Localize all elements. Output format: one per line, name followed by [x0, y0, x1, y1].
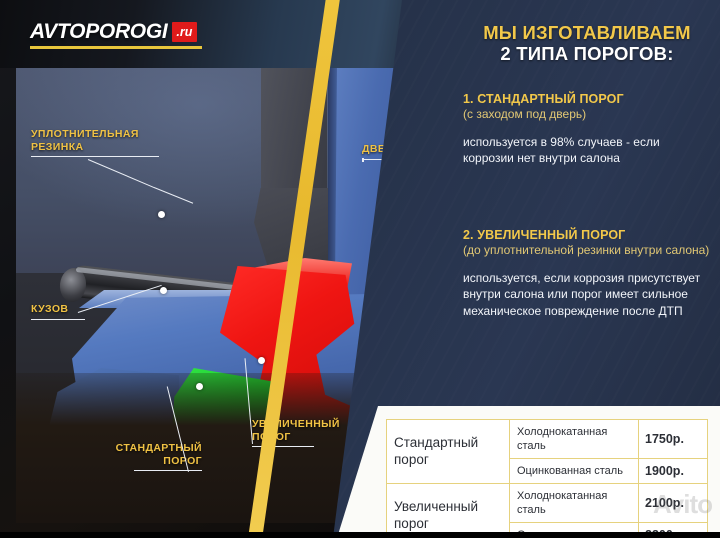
logo-underline-bar [30, 46, 202, 49]
heading-line1: МЫ ИЗГОТАВЛИВАЕМ [462, 22, 712, 43]
row-type-enlarged: Увеличенный порог [387, 484, 510, 538]
callout-standard-underline [134, 470, 202, 471]
logo-row: AVTOPOROGI .ru [30, 20, 202, 44]
page-title: МЫ ИЗГОТАВЛИВАЕМ 2 ТИПА ПОРОГОВ: [462, 22, 712, 64]
callout-seal-line1: УПЛОТНИТЕЛЬНАЯ [31, 128, 139, 140]
logo-tld-badge: .ru [172, 22, 197, 42]
row-price: 1750р. [639, 420, 708, 459]
leader-dot-standard [196, 383, 203, 390]
leader-door-tick [362, 158, 364, 162]
callout-standard-line2: ПОРОГ [163, 455, 202, 467]
type-2-subtitle: (до уплотнительной резинки внутри салона… [463, 243, 713, 258]
callout-seal-underline [31, 156, 159, 157]
logo-wordmark: AVTOPOROGI [30, 20, 167, 44]
site-logo[interactable]: AVTOPOROGI .ru [30, 20, 202, 49]
promo-poster: УПЛОТНИТЕЛЬНАЯ РЕЗИНКА КУЗОВ ДВЕРЬ СТАНД… [0, 0, 720, 538]
heading-line2: 2 ТИПА ПОРОГОВ: [462, 43, 712, 64]
price-table: Стандартный порог Холоднокатанная сталь … [386, 419, 708, 538]
row-material: Оцинкованная сталь [510, 459, 639, 484]
leader-dot-enlarged [258, 357, 265, 364]
row-price: 1900р. [639, 459, 708, 484]
leader-dot-seal [158, 211, 165, 218]
type-1-body: используется в 98% случаев - если корроз… [463, 134, 713, 167]
callout-seal-line2: РЕЗИНКА [31, 141, 84, 153]
row-material: Холоднокатанная сталь [510, 420, 639, 459]
type-block-standard: 1. СТАНДАРТНЫЙ ПОРОГ (с заходом под двер… [463, 92, 713, 167]
type-2-title: 2. УВЕЛИЧЕННЫЙ ПОРОГ [463, 228, 713, 243]
type-2-body: используется, если коррозия присутствует… [463, 270, 713, 320]
callout-body-underline [31, 319, 85, 320]
callout-seal: УПЛОТНИТЕЛЬНАЯ РЕЗИНКА [31, 128, 159, 157]
callout-standard-line1: СТАНДАРТНЫЙ [116, 442, 202, 454]
row-type-standard: Стандартный порог [387, 420, 510, 484]
type-1-title: 1. СТАНДАРТНЫЙ ПОРОГ [463, 92, 713, 107]
avito-watermark: Avito [653, 489, 712, 520]
callout-body-line1: КУЗОВ [31, 303, 68, 315]
table-row: Стандартный порог Холоднокатанная сталь … [387, 420, 708, 459]
leader-dot-body [160, 287, 167, 294]
bottom-black-strip [0, 532, 720, 538]
type-1-subtitle: (с заходом под дверь) [463, 107, 713, 122]
type-block-enlarged: 2. УВЕЛИЧЕННЫЙ ПОРОГ (до уплотнительной … [463, 228, 713, 319]
row-material: Холоднокатанная сталь [510, 484, 639, 523]
